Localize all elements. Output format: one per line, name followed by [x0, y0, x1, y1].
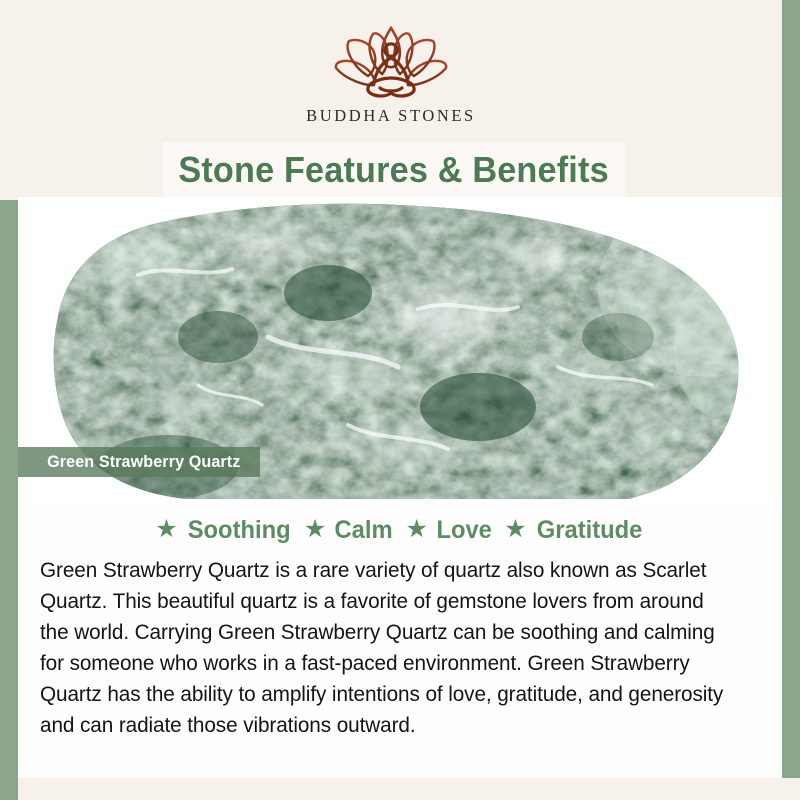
- decor-strip-left: [0, 199, 18, 783]
- keyword-list: ★ Soothing ★ Calm ★ Love ★ Gratitude: [40, 516, 760, 545]
- star-icon: ★: [155, 517, 177, 542]
- keyword-label: Love: [436, 516, 491, 545]
- brand-name: BUDDHA STONES: [306, 106, 476, 126]
- lotus-meditation-figure-icon: [316, 22, 466, 104]
- star-icon: ★: [405, 517, 427, 542]
- keyword-label: Gratitude: [536, 516, 642, 545]
- page-title: Stone Features & Benefits: [179, 149, 609, 191]
- decor-strip-right: [782, 0, 800, 782]
- stone-photo: Green Strawberry Quartz: [18, 197, 782, 499]
- keyword-item-love: ★ Love: [405, 516, 493, 545]
- photo-caption-label: Green Strawberry Quartz: [47, 452, 240, 472]
- keyword-item-gratitude: ★ Gratitude: [504, 516, 645, 545]
- poster-root: BUDDHA STONES Stone Features & Benefits: [0, 0, 800, 800]
- star-icon: ★: [304, 517, 326, 542]
- star-icon: ★: [504, 517, 526, 542]
- title-band: Stone Features & Benefits: [163, 142, 625, 198]
- brand-logo: BUDDHA STONES: [0, 22, 782, 126]
- decor-cream-bottom: [18, 778, 800, 800]
- content-panel: ★ Soothing ★ Calm ★ Love ★ Gratitude Gre…: [18, 499, 782, 780]
- description-paragraph: Green Strawberry Quartz is a rare variet…: [40, 555, 735, 741]
- keyword-label: Soothing: [187, 516, 290, 545]
- photo-caption: Green Strawberry Quartz: [18, 447, 260, 477]
- keyword-label: Calm: [335, 516, 393, 545]
- keyword-item-soothing: ★ Soothing: [155, 516, 293, 545]
- keyword-item-calm: ★ Calm: [304, 516, 395, 545]
